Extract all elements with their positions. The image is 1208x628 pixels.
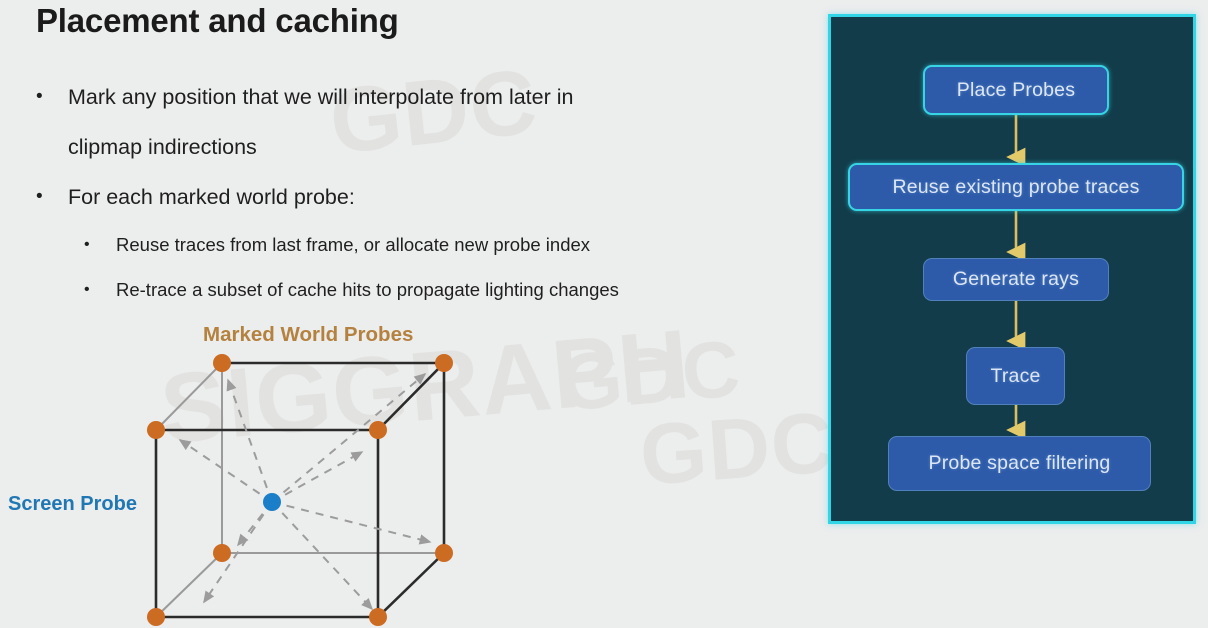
bullet-item: • Reuse traces from last frame, or alloc… — [36, 222, 796, 267]
screen-probe-dot — [263, 493, 281, 511]
flow-stack: Place Probes Reuse existing probe traces… — [831, 17, 1193, 521]
flow-node-label: Trace — [990, 365, 1040, 388]
flow-node-generate-rays[interactable]: Generate rays — [923, 258, 1109, 301]
world-probe-dot — [435, 544, 453, 562]
cube-edges — [156, 363, 444, 617]
bullet-marker-icon: • — [84, 222, 116, 267]
cube-hidden-edges — [156, 363, 444, 617]
bullet-marker-icon: • — [36, 172, 68, 222]
flow-node-reuse-existing-probe-traces[interactable]: Reuse existing probe traces — [848, 163, 1184, 211]
cube-svg — [0, 312, 500, 628]
flow-node-trace[interactable]: Trace — [966, 347, 1065, 405]
world-probe-dot — [369, 421, 387, 439]
probe-rays — [180, 374, 430, 609]
bullet-list: • Mark any position that we will interpo… — [36, 72, 796, 312]
flowchart-panel: Place Probes Reuse existing probe traces… — [828, 14, 1196, 524]
bullet-text: Reuse traces from last frame, or allocat… — [116, 222, 590, 267]
bullet-text: clipmap indirections — [68, 122, 257, 172]
flow-node-label: Place Probes — [957, 79, 1075, 102]
bullet-marker-icon: • — [36, 72, 68, 122]
flow-node-label: Generate rays — [953, 268, 1079, 291]
world-probe-dot — [147, 608, 165, 626]
bullet-item-continuation: • clipmap indirections — [36, 122, 796, 172]
bullet-text: Re-trace a subset of cache hits to propa… — [116, 267, 619, 312]
watermark-text: GDC — [637, 393, 838, 505]
bullet-text: Mark any position that we will interpola… — [68, 72, 573, 122]
world-probe-dot — [213, 544, 231, 562]
flow-node-probe-space-filtering[interactable]: Probe space filtering — [888, 436, 1151, 491]
world-probe-dot — [435, 354, 453, 372]
slide-title: Placement and caching — [36, 2, 399, 40]
watermark-text: GDC — [556, 322, 744, 429]
bullet-item: • Mark any position that we will interpo… — [36, 72, 796, 122]
bullet-item: • For each marked world probe: — [36, 172, 796, 222]
world-probe-dot — [213, 354, 231, 372]
flow-node-label: Probe space filtering — [929, 452, 1111, 475]
world-probe-dots — [147, 354, 453, 626]
world-probe-dot — [369, 608, 387, 626]
bullet-marker-icon: • — [84, 267, 116, 312]
flow-node-place-probes[interactable]: Place Probes — [923, 65, 1109, 115]
bullet-text: For each marked world probe: — [68, 172, 355, 222]
flow-node-label: Reuse existing probe traces — [892, 176, 1139, 199]
world-probe-dot — [147, 421, 165, 439]
cube-diagram — [0, 312, 500, 628]
bullet-item: • Re-trace a subset of cache hits to pro… — [36, 267, 796, 312]
